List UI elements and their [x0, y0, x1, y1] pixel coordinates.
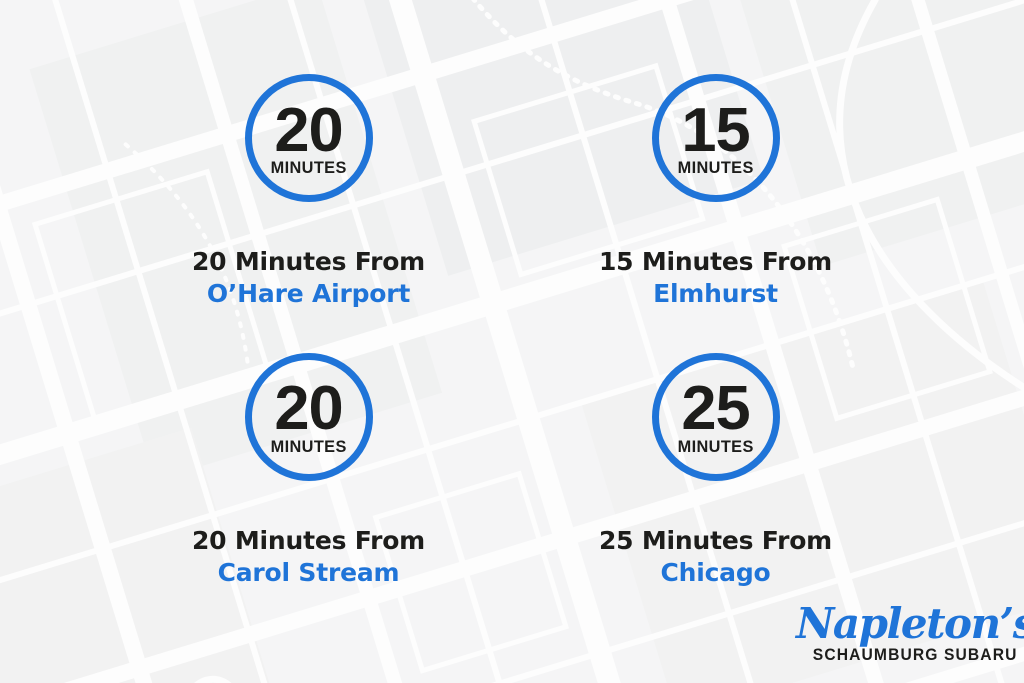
logo-subtitle: SCHAUMBURG SUBARU: [813, 646, 1006, 665]
badge-number: 20: [274, 104, 342, 157]
caption-location: O’Hare Airport: [192, 278, 425, 310]
caption-primary: 20 Minutes From: [192, 246, 425, 278]
badge-number: 20: [274, 382, 342, 435]
badge-ohare-airport: 20 MINUTES 20 Minutes From O’Hare Airpor…: [110, 74, 507, 343]
badge-unit-label: MINUTES: [677, 438, 753, 455]
badge-unit-label: MINUTES: [270, 159, 346, 176]
minutes-badge-circle: 15 MINUTES: [652, 74, 780, 202]
caption-location: Carol Stream: [192, 557, 425, 589]
caption-primary: 25 Minutes From: [599, 525, 832, 557]
badge-chicago: 25 MINUTES 25 Minutes From Chicago: [517, 353, 914, 622]
badge-caption: 20 Minutes From Carol Stream: [192, 525, 425, 589]
drive-time-infographic: 20 MINUTES 20 Minutes From O’Hare Airpor…: [0, 0, 1024, 683]
badge-elmhurst: 15 MINUTES 15 Minutes From Elmhurst: [517, 74, 914, 343]
minutes-badge-circle: 20 MINUTES: [245, 353, 373, 481]
badge-caption: 20 Minutes From O’Hare Airport: [192, 246, 425, 310]
logo-wordmark: Napleton’s: [796, 603, 1006, 645]
badge-caption: 25 Minutes From Chicago: [599, 525, 832, 589]
dealership-logo: Napleton’s SCHAUMBURG SUBARU: [796, 603, 1006, 665]
badge-grid: 20 MINUTES 20 Minutes From O’Hare Airpor…: [0, 0, 1024, 683]
caption-location: Elmhurst: [599, 278, 832, 310]
badge-number: 15: [681, 104, 749, 157]
badge-unit-label: MINUTES: [677, 159, 753, 176]
minutes-badge-circle: 25 MINUTES: [652, 353, 780, 481]
badge-carol-stream: 20 MINUTES 20 Minutes From Carol Stream: [110, 353, 507, 622]
badge-caption: 15 Minutes From Elmhurst: [599, 246, 832, 310]
minutes-badge-circle: 20 MINUTES: [245, 74, 373, 202]
badge-number: 25: [681, 382, 749, 435]
caption-primary: 15 Minutes From: [599, 246, 832, 278]
caption-primary: 20 Minutes From: [192, 525, 425, 557]
badge-unit-label: MINUTES: [270, 438, 346, 455]
caption-location: Chicago: [599, 557, 832, 589]
